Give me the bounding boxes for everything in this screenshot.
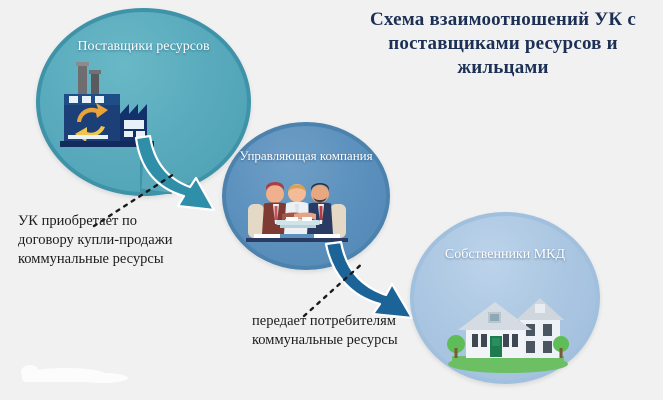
node-owners-label: Собственники МКД bbox=[414, 246, 596, 264]
node-suppliers-label: Поставщики ресурсов bbox=[40, 38, 247, 56]
page-title: Схема взаимоотношений УК с поставщиками … bbox=[348, 8, 658, 80]
bubble-tail-suppliers bbox=[140, 150, 186, 194]
node-management-label: Управляющая компания bbox=[226, 148, 386, 164]
blurred-watermark bbox=[14, 362, 132, 388]
factory-recycling-icon bbox=[48, 62, 170, 152]
houses-icon bbox=[444, 288, 572, 374]
infographic-canvas: Схема взаимоотношений УК с поставщиками … bbox=[0, 0, 663, 400]
caption-deliver: передает потребителям коммунальные ресур… bbox=[252, 312, 417, 350]
caption-purchase: УК приобретает по договору купли-продажи… bbox=[18, 212, 178, 269]
business-meeting-icon bbox=[242, 176, 352, 252]
